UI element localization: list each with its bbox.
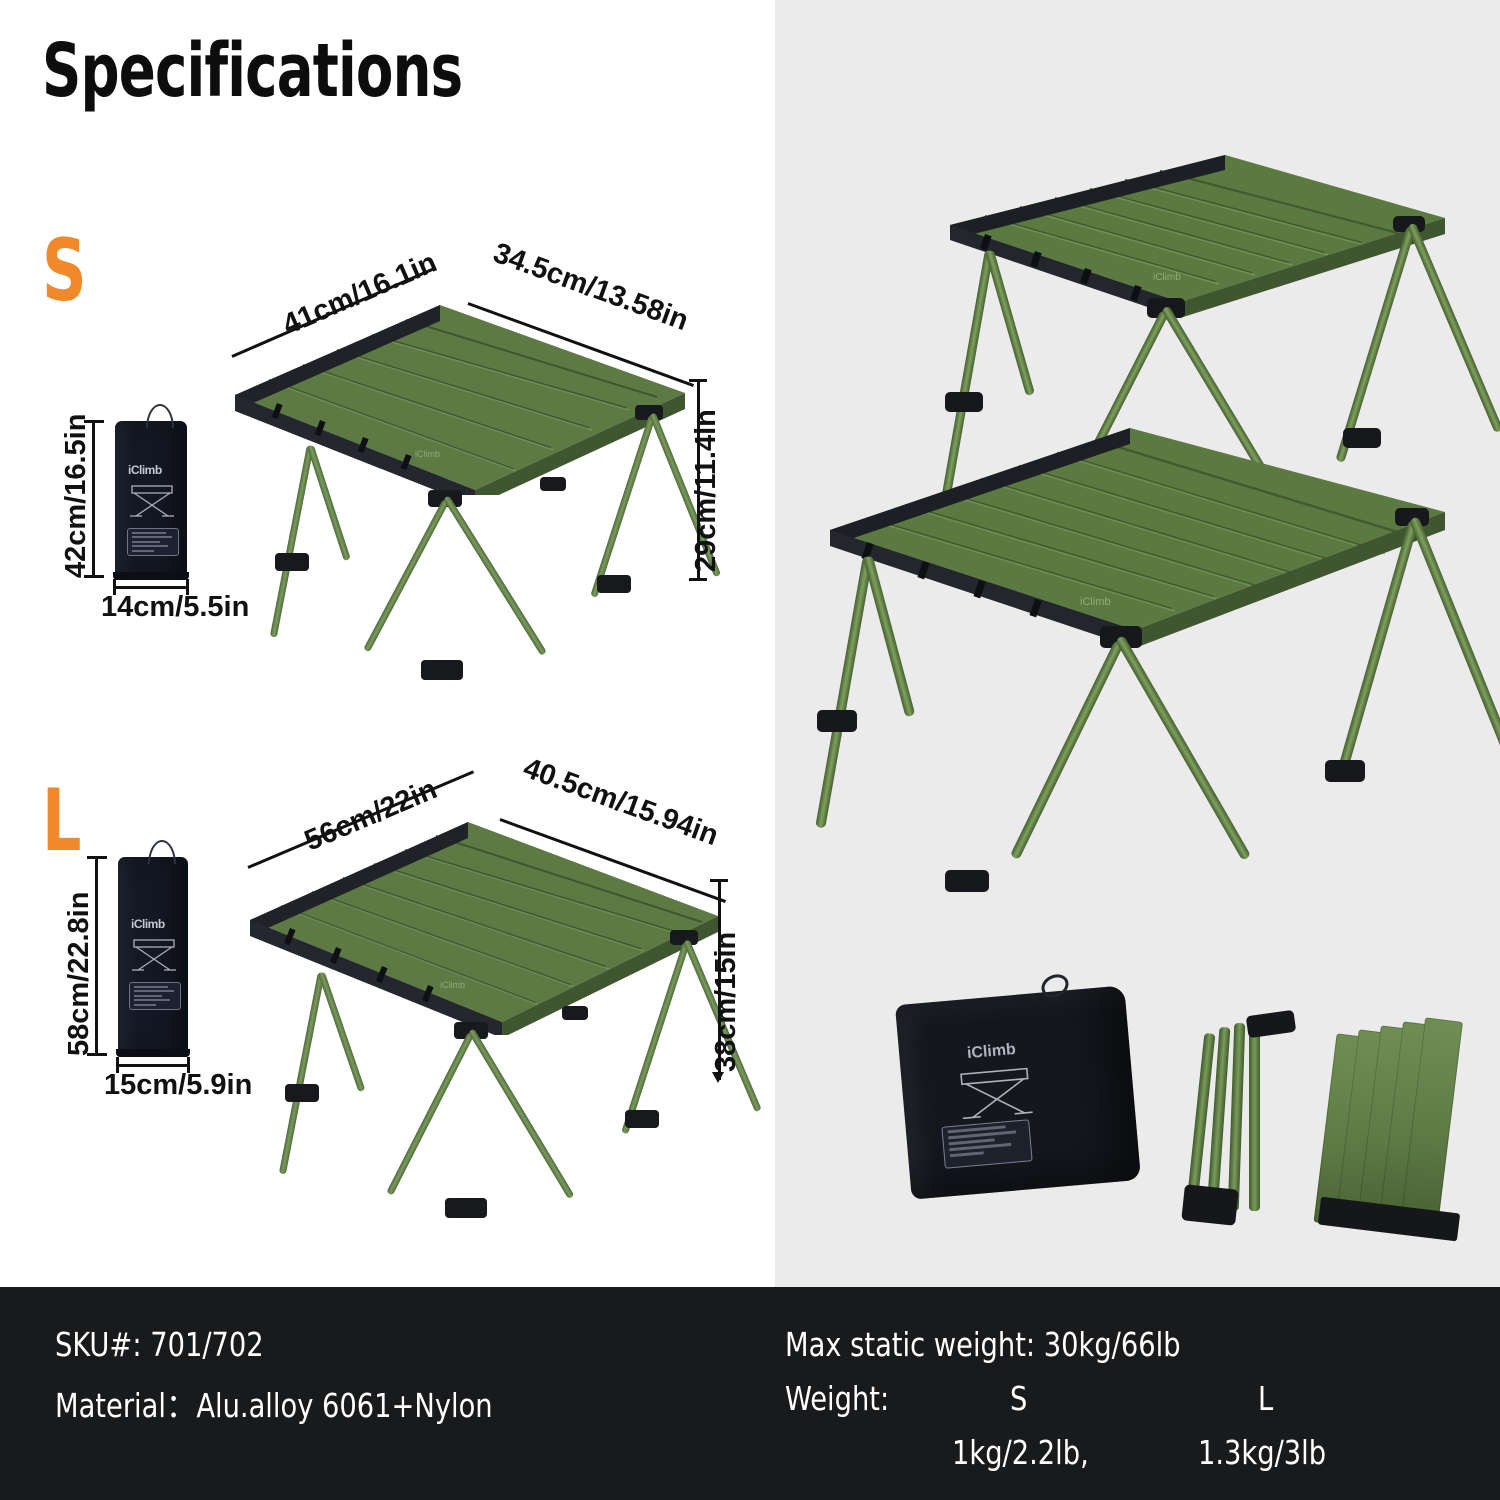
svg-text:iClimb: iClimb bbox=[1080, 596, 1111, 608]
bag-logo-small: iClimb bbox=[128, 463, 162, 477]
footer-weight-small: 1kg/2.2lb, bbox=[952, 1433, 1089, 1472]
footer-max-static-weight: Max static weight: 30kg/66lb bbox=[785, 1325, 1181, 1364]
specs-footer: SKU#: 701/702 Material：Alu.alloy 6061+Ny… bbox=[0, 1287, 1500, 1500]
table-diagram-small: iClimb bbox=[225, 285, 695, 675]
product-photo-panel: iClimb bbox=[775, 0, 1500, 1287]
page-title: Specifications bbox=[42, 28, 462, 114]
footer-weight-col-large: L bbox=[1258, 1379, 1273, 1418]
footer-weight-large: 1.3kg/3lb bbox=[1198, 1433, 1326, 1472]
product-photo-table-large: iClimb bbox=[805, 400, 1455, 900]
footer-weight-label: Weight: bbox=[785, 1379, 889, 1418]
footer-material: Material：Alu.alloy 6061+Nylon bbox=[55, 1379, 493, 1427]
size-badge-large: L bbox=[42, 778, 81, 864]
svg-text:iClimb: iClimb bbox=[415, 449, 440, 459]
product-photo-accessories: iClimb bbox=[895, 955, 1475, 1245]
svg-text:iClimb: iClimb bbox=[440, 980, 465, 990]
table-diagram-large: iClimb bbox=[240, 800, 730, 1200]
bag-logo-large: iClimb bbox=[131, 917, 165, 931]
diagram-panel: Specifications S iClimb bbox=[0, 0, 775, 1287]
footer-weight-col-small: S bbox=[1010, 1379, 1027, 1418]
specifications-page: Specifications S iClimb bbox=[0, 0, 1500, 1500]
size-badge-small: S bbox=[42, 228, 87, 314]
sack-care-label bbox=[941, 1119, 1032, 1169]
footer-sku: SKU#: 701/702 bbox=[55, 1325, 264, 1364]
svg-text:iClimb: iClimb bbox=[1153, 272, 1181, 283]
